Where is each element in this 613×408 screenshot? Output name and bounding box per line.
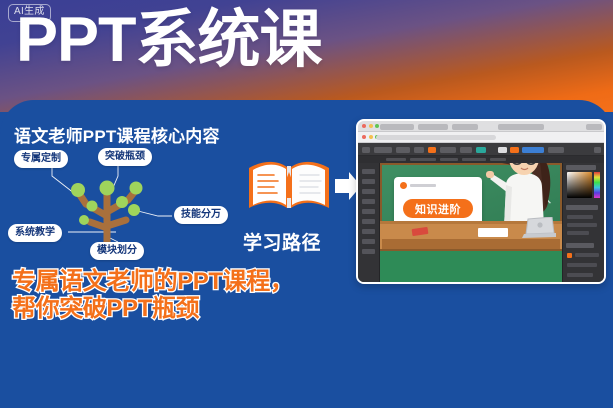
canvas[interactable]: 知识进阶 (380, 163, 562, 284)
tool-brush-icon[interactable] (362, 199, 375, 204)
layers-header (566, 243, 594, 248)
toolbar-color-icon[interactable] (428, 147, 436, 153)
editor-options-bar (358, 156, 604, 163)
tree-label-module: 模块划分 (90, 242, 144, 260)
color-picker-panel[interactable] (562, 163, 604, 284)
browser-tab[interactable] (418, 124, 448, 130)
back-icon[interactable] (362, 135, 366, 139)
toolbar-text-icon[interactable] (460, 147, 472, 153)
knowledge-tree-diagram: 专属定制 突破瓶颈 技能分万 系统教学 模块划分 (6, 146, 256, 256)
tools-panel[interactable] (358, 163, 380, 284)
poster-header: PPT系统课 (0, 0, 613, 112)
panel-row[interactable] (567, 231, 589, 235)
tool-zoom-icon[interactable] (362, 239, 375, 244)
browser-tab-active[interactable] (498, 124, 544, 130)
white-paper (478, 228, 508, 237)
toolbar-swatch-blue[interactable] (522, 147, 544, 153)
tree-label-break: 突破瓶颈 (98, 148, 152, 166)
toolbar-brush-icon[interactable] (476, 147, 486, 153)
option-chip[interactable] (410, 158, 436, 161)
toolbar-shape-icon[interactable] (440, 147, 456, 153)
slide-title-pill: 知识进阶 (403, 199, 473, 218)
page-title: PPT系统课 (16, 6, 322, 74)
headline-line-1: 专属语文老师的PPT课程， (12, 268, 293, 295)
tree-label-custom: 专属定制 (14, 150, 68, 168)
tool-crop-icon[interactable] (362, 189, 375, 194)
toolbar-file-icon[interactable] (374, 147, 392, 153)
poster-root: PPT系统课 AI生成 语文老师PPT课程核心内容 (0, 0, 613, 408)
section-title: 语文老师PPT课程核心内容 (14, 122, 220, 147)
layer-row[interactable] (567, 273, 593, 277)
minimize-icon[interactable] (369, 124, 373, 128)
desk-front-panel (382, 239, 560, 249)
browser-tab[interactable] (380, 124, 414, 130)
chalkboard: 知识进阶 (380, 163, 562, 251)
tool-eraser-icon[interactable] (362, 209, 375, 214)
slide-logo-text (410, 184, 436, 187)
tool-shape-icon[interactable] (362, 229, 375, 234)
layer-row[interactable] (575, 253, 599, 257)
hue-slider[interactable] (594, 172, 600, 198)
window-titlebar (358, 121, 604, 132)
editor-workspace: 知识进阶 (358, 163, 604, 284)
laptop-icon (522, 217, 556, 239)
toolbar-view-icon[interactable] (414, 147, 424, 153)
slide-logo-icon (400, 182, 407, 189)
headline-line-2: 帮你突破PPT瓶颈 (12, 295, 293, 322)
url-text (376, 135, 496, 140)
open-book-icon (249, 162, 329, 208)
color-gradient-square[interactable] (567, 172, 592, 198)
forward-icon[interactable] (369, 135, 373, 139)
tool-move-icon[interactable] (362, 169, 375, 174)
zoom-icon[interactable] (375, 124, 379, 128)
option-chip[interactable] (440, 158, 458, 161)
panel-section-title (566, 205, 598, 210)
design-editor-window[interactable]: 知识进阶 (356, 119, 606, 284)
tool-hand-icon[interactable] (362, 249, 375, 254)
toolbar-menu-icon[interactable] (362, 147, 370, 153)
layer-color-chip[interactable] (567, 253, 572, 258)
toolbar-swatch-gray[interactable] (548, 147, 564, 153)
panel-row[interactable] (567, 223, 597, 227)
learning-path-label: 学习路径 (243, 228, 321, 255)
option-chip[interactable] (386, 158, 406, 161)
toolbar-settings-icon[interactable] (594, 147, 601, 153)
panel-row[interactable] (567, 215, 593, 219)
window-controls[interactable] (586, 124, 602, 130)
toolbar-edit-icon[interactable] (396, 147, 410, 153)
panel-header (566, 165, 596, 170)
browser-tab[interactable] (452, 124, 478, 130)
window-address-bar[interactable] (358, 132, 604, 143)
traffic-lights[interactable] (362, 124, 379, 128)
toolbar-swatch-orange[interactable] (510, 147, 519, 153)
tree-label-system: 系统教学 (8, 224, 62, 242)
tool-select-icon[interactable] (362, 179, 375, 184)
layer-row[interactable] (567, 263, 597, 267)
option-chip[interactable] (490, 158, 506, 161)
editor-toolbar[interactable] (358, 143, 604, 156)
toolbar-swatch-white[interactable] (498, 147, 507, 153)
close-icon[interactable] (362, 124, 366, 128)
tool-text-icon[interactable] (362, 219, 375, 224)
option-chip[interactable] (462, 158, 486, 161)
tree-label-skill: 技能分万 (174, 206, 228, 224)
headline: 专属语文老师的PPT课程， 帮你突破PPT瓶颈 (12, 268, 293, 323)
ai-generated-badge: AI生成 (8, 4, 51, 22)
